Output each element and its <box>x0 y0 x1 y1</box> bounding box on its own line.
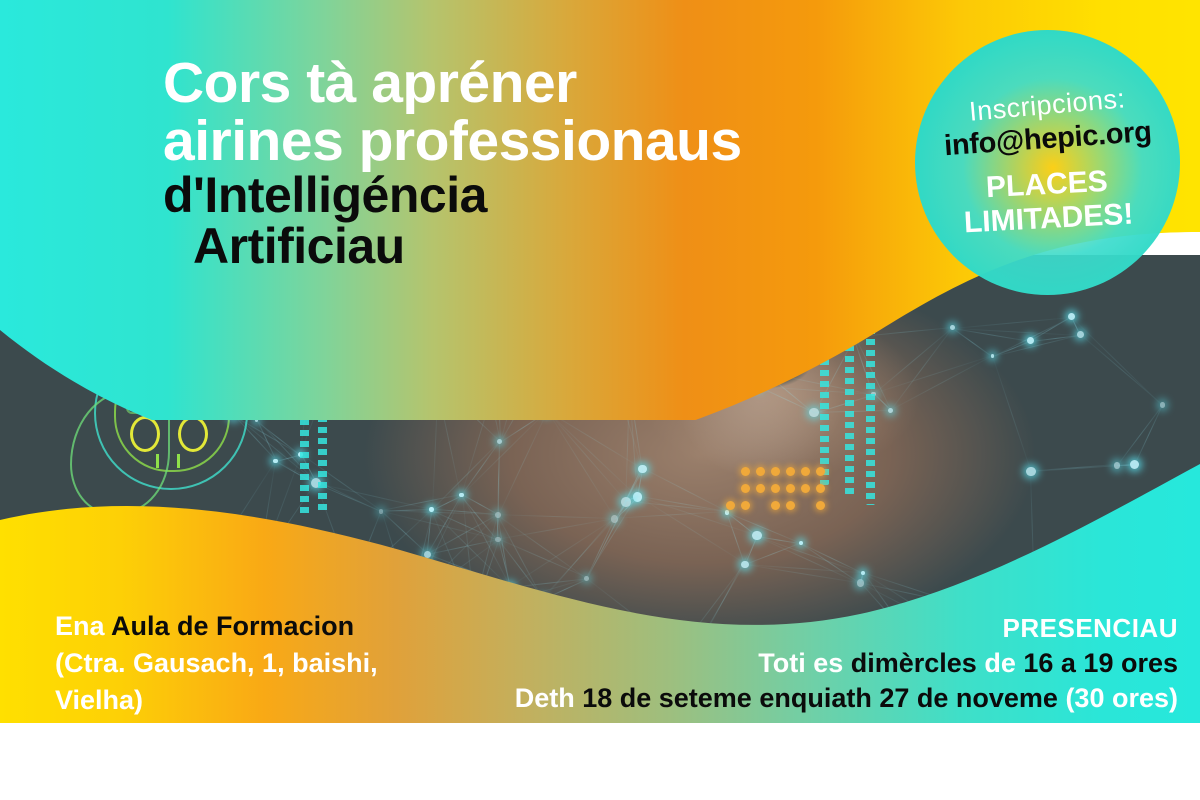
page-title: Cors tà apréner airines professionaus d'… <box>163 55 863 271</box>
schedule-dates: Deth 18 de seteme enquiath 27 de noveme … <box>418 681 1178 716</box>
schedule-days-emph: dimèrcles <box>851 648 977 678</box>
schedule-days: Toti es dimèrcles de 16 a 19 ores <box>418 646 1178 681</box>
registration-badge[interactable]: Inscripcions: info@hepic.org PLACES LIMI… <box>915 30 1180 295</box>
amber-dot <box>726 501 735 510</box>
amber-dot <box>756 484 765 493</box>
amber-dot <box>741 501 750 510</box>
network-link <box>1117 405 1163 466</box>
footer-logo-bar: Cambra de Comerç de Lleida Conselh Gener… <box>0 723 1200 800</box>
schedule-block: PRESENCIAU Toti es dimèrcles de 16 a 19 … <box>418 612 1178 716</box>
data-column <box>318 405 327 515</box>
data-column <box>845 345 854 495</box>
amber-dot <box>816 501 825 510</box>
amber-dot <box>771 484 780 493</box>
schedule-dates-prefix: Deth <box>515 683 575 713</box>
venue-prefix: Ena <box>55 611 105 641</box>
amber-dot <box>786 467 795 476</box>
schedule-days-mid: de <box>984 648 1016 678</box>
network-link <box>497 515 498 540</box>
amber-dot <box>771 467 780 476</box>
amber-dot <box>756 467 765 476</box>
amber-dot <box>741 467 750 476</box>
amber-dot <box>786 501 795 510</box>
venue-place: Aula de Formacion <box>111 611 354 641</box>
schedule-days-prefix: Toti es <box>758 648 843 678</box>
amber-dot <box>786 484 795 493</box>
headline-line-1: Cors tà apréner <box>163 55 863 113</box>
network-link <box>1080 334 1163 405</box>
badge-highlight: PLACES LIMITADES! <box>961 164 1134 240</box>
amber-dot <box>801 484 810 493</box>
schedule-mode: PRESENCIAU <box>418 612 1178 646</box>
headline-line-2: airines professionaus <box>163 113 863 171</box>
schedule-dates-total: (30 ores) <box>1065 683 1178 713</box>
schedule-dates-range: 18 de seteme enquiath 27 de noveme <box>582 683 1058 713</box>
amber-dot <box>816 467 825 476</box>
network-link <box>461 441 500 495</box>
headline-line-3: d'Intelligéncia <box>163 170 863 221</box>
amber-dot <box>741 484 750 493</box>
amber-dot <box>801 467 810 476</box>
poster-canvas: Cors tà apréner airines professionaus d'… <box>0 0 1200 800</box>
headline-line-4: Artificiau <box>163 221 863 272</box>
amber-dot <box>816 484 825 493</box>
network-link <box>498 514 615 519</box>
schedule-days-hours: 16 a 19 ores <box>1023 648 1178 678</box>
amber-dot <box>771 501 780 510</box>
badge-highlight-line-1: PLACES <box>985 165 1108 204</box>
